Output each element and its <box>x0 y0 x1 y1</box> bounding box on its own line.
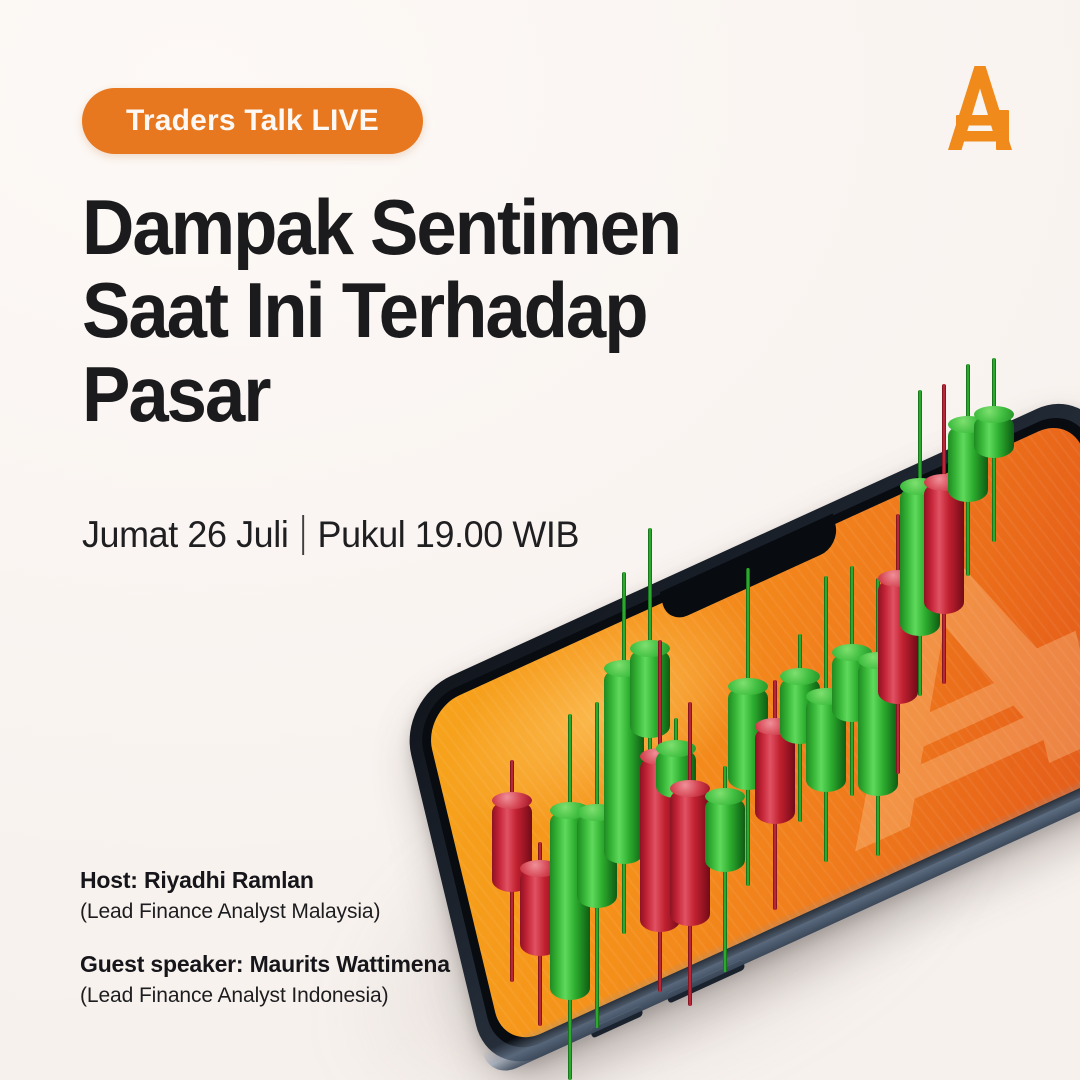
candle-wick <box>674 718 678 858</box>
candle-2-down <box>520 842 560 1026</box>
candle-tube <box>604 668 644 864</box>
candle-tube <box>948 424 988 502</box>
candle-cap <box>604 660 644 677</box>
candle-cap <box>878 570 918 587</box>
candle-body <box>806 696 846 792</box>
speakers-block: Host: Riyadhi Ramlan (Lead Finance Analy… <box>80 866 450 1010</box>
phone-button-volume <box>590 1005 643 1039</box>
candle-tube <box>924 482 964 614</box>
candle-wick <box>595 702 599 1028</box>
candle-wick <box>773 680 777 910</box>
candle-cap <box>630 640 670 657</box>
candle-14-up <box>806 576 846 862</box>
candle-cap <box>974 406 1014 423</box>
candle-10-up <box>705 766 745 972</box>
candle-tube <box>705 796 745 872</box>
event-datetime: Jumat 26 Juli Pukul 19.00 WIB <box>82 514 579 556</box>
live-badge-label: Traders Talk LIVE <box>126 106 379 136</box>
candle-tube <box>858 660 898 796</box>
candle-wick <box>568 714 572 1080</box>
headline-line-2: Saat Ini Terhadap <box>82 269 789 352</box>
candle-3-up <box>550 714 590 1080</box>
headline-line-1: Dampak Sentimen <box>82 186 789 269</box>
candle-tube <box>630 648 670 738</box>
candle-tube <box>878 578 918 704</box>
phone-button-power <box>666 959 745 1004</box>
candle-tube <box>577 812 617 908</box>
guest-name: Guest speaker: Maurits Wattimena <box>80 950 450 980</box>
candle-wick <box>876 578 880 856</box>
candle-4-up <box>577 702 617 1028</box>
candle-cap <box>832 644 872 661</box>
host-name: Host: Riyadhi Ramlan <box>80 866 450 896</box>
candle-cap <box>924 474 964 491</box>
candle-body <box>604 668 644 864</box>
candle-tube <box>755 726 795 824</box>
host-row: Host: Riyadhi Ramlan (Lead Finance Analy… <box>80 866 450 926</box>
candle-body <box>577 812 617 908</box>
candle-wick <box>918 390 922 696</box>
candle-body <box>728 686 768 790</box>
candle-11-up <box>728 568 768 886</box>
screen-stripe-texture <box>423 415 1080 1050</box>
candle-body <box>832 652 872 722</box>
candle-cap <box>670 780 710 797</box>
candle-tube <box>670 788 710 926</box>
candle-cap <box>806 688 846 705</box>
candle-tube <box>492 800 532 892</box>
candle-8-down <box>640 640 680 992</box>
candle-body <box>656 748 696 798</box>
brand-logo <box>930 58 1030 158</box>
candle-tube <box>806 696 846 792</box>
candle-17-down <box>878 514 918 774</box>
candle-tube <box>832 652 872 722</box>
candle-wick <box>992 358 996 542</box>
candle-1-down <box>492 760 532 982</box>
candle-16-up <box>858 578 898 856</box>
candle-6-up <box>630 528 670 828</box>
candle-wick <box>824 576 828 862</box>
candle-wick <box>798 634 802 822</box>
candle-body <box>670 788 710 926</box>
candle-tube <box>974 414 1014 458</box>
candle-body <box>900 486 940 636</box>
candle-cap <box>492 792 532 809</box>
poster-canvas: Traders Talk LIVE Dampak Sentimen Saat I… <box>0 0 1080 1080</box>
candle-cap <box>728 678 768 695</box>
candle-cap <box>780 668 820 685</box>
candle-body <box>550 810 590 1000</box>
live-badge[interactable]: Traders Talk LIVE <box>82 88 423 154</box>
phone-screen <box>423 415 1080 1050</box>
candle-cap <box>705 788 745 805</box>
candle-body <box>630 648 670 738</box>
candle-wick <box>510 760 514 982</box>
screen-watermark-logo <box>723 451 1080 906</box>
candle-body <box>948 424 988 502</box>
candle-15-up <box>832 566 872 796</box>
candle-wick <box>658 640 662 992</box>
headline-line-3: Pasar <box>82 353 789 436</box>
candle-cap <box>900 478 940 495</box>
candle-wick <box>896 514 900 774</box>
phone-notch <box>660 513 841 624</box>
candle-body <box>640 756 680 932</box>
candle-tube <box>640 756 680 932</box>
page-title: Dampak Sentimen Saat Ini Terhadap Pasar <box>82 186 789 436</box>
candle-body <box>520 868 560 956</box>
candle-body <box>858 660 898 796</box>
candle-13-up <box>780 634 820 822</box>
candle-body <box>705 796 745 872</box>
candle-wick <box>746 568 750 886</box>
candle-tube <box>520 868 560 956</box>
candle-wick <box>538 842 542 1026</box>
candle-body <box>974 414 1014 458</box>
candle-cap <box>520 860 560 877</box>
candle-21-up <box>974 358 1014 542</box>
candle-20-up <box>948 364 988 576</box>
candle-body <box>924 482 964 614</box>
host-role: (Lead Finance Analyst Malaysia) <box>80 898 450 926</box>
candle-12-down <box>755 680 795 910</box>
candle-9-down <box>670 702 710 1006</box>
datetime-separator <box>302 515 304 555</box>
candle-tube <box>728 686 768 790</box>
candle-7-up <box>656 718 696 858</box>
candle-wick <box>942 384 946 684</box>
candle-wick <box>648 528 652 828</box>
candle-cap <box>577 804 617 821</box>
candle-body <box>755 726 795 824</box>
candle-body <box>780 676 820 744</box>
smartphone-illustration <box>398 385 1080 1080</box>
candle-wick <box>850 566 854 796</box>
event-date: Jumat 26 Juli <box>82 514 288 556</box>
candle-5-up <box>604 572 644 934</box>
candle-cap <box>755 718 795 735</box>
candle-19-down <box>924 384 964 684</box>
candle-wick <box>622 572 626 934</box>
candle-tube <box>550 810 590 1000</box>
phone-bezel <box>413 403 1080 1063</box>
candle-body <box>492 800 532 892</box>
candle-cap <box>858 652 898 669</box>
guest-role: (Lead Finance Analyst Indonesia) <box>80 982 450 1010</box>
candle-cap <box>640 748 680 765</box>
candle-wick <box>966 364 970 576</box>
candle-cap <box>948 416 988 433</box>
phone-body <box>398 385 1080 1080</box>
candle-wick <box>688 702 692 1006</box>
candle-wick <box>723 766 727 972</box>
guest-row: Guest speaker: Maurits Wattimena (Lead F… <box>80 950 450 1010</box>
candle-18-up <box>900 390 940 696</box>
candle-cap <box>550 802 590 819</box>
candle-cap <box>656 740 696 757</box>
candle-tube <box>780 676 820 744</box>
candle-tube <box>900 486 940 636</box>
candle-tube <box>656 748 696 798</box>
candle-body <box>878 578 918 704</box>
event-time: Pukul 19.00 WIB <box>318 514 580 556</box>
